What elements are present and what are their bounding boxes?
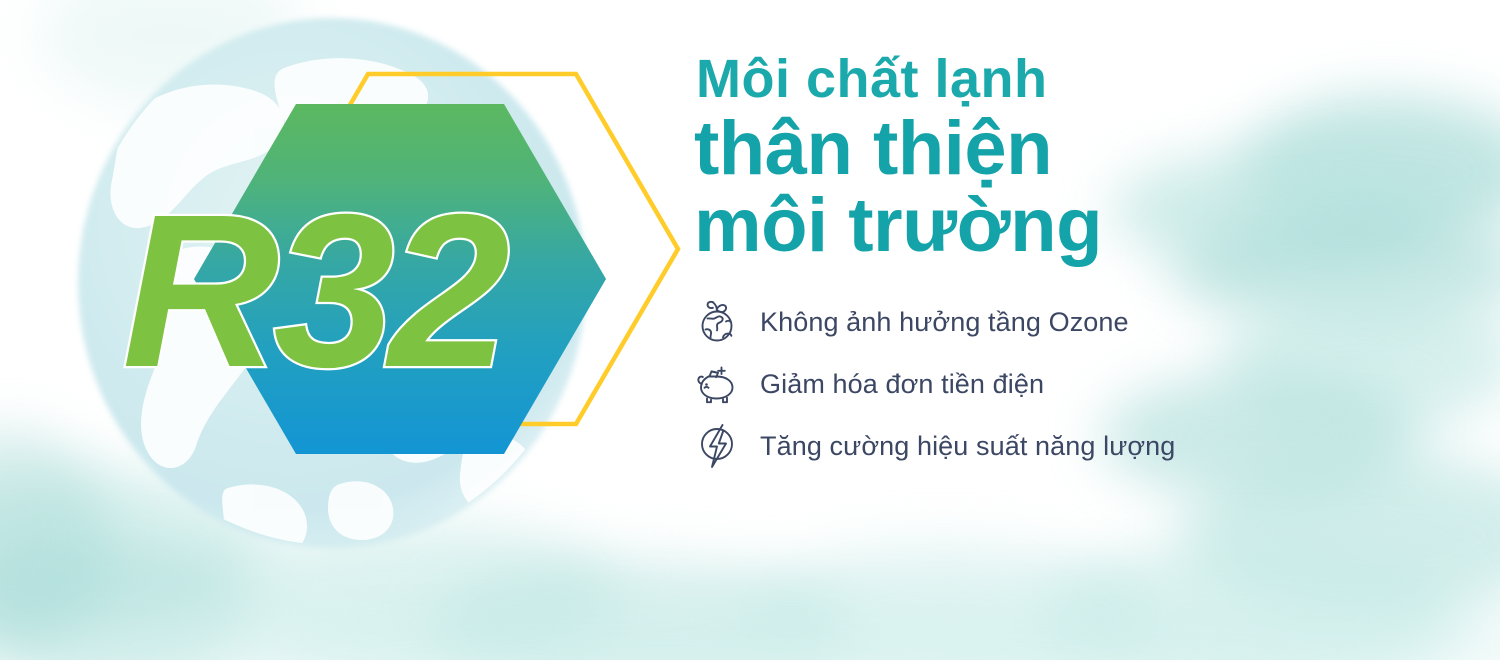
- wash-left-edge: [0, 430, 110, 650]
- benefit-label: Giảm hóa đơn tiền điện: [760, 369, 1044, 400]
- headline-line-3: môi trường: [694, 186, 1448, 265]
- r32-refrigerant-hexagon-logo: R32: [106, 46, 666, 486]
- hexagon-logo-svg: R32: [106, 46, 666, 486]
- wash-bottom-center-1: [220, 520, 620, 660]
- benefit-label: Tăng cường hiệu suất năng lượng: [760, 431, 1175, 462]
- piggy-bank-icon: [694, 359, 742, 409]
- wash-bottom-strip: [0, 596, 1500, 660]
- globe-sprout-icon: [694, 297, 742, 347]
- list-item: Tăng cường hiệu suất năng lượng: [694, 415, 1448, 477]
- headline-line-2: thân thiện: [694, 109, 1448, 188]
- wash-bottom-center-2: [430, 560, 850, 660]
- r32-wordmark-text: R32: [122, 170, 508, 413]
- wash-bottom-left-2: [0, 540, 260, 660]
- wash-right-bottom: [1040, 540, 1460, 660]
- r32-wordmark: R32: [122, 170, 508, 413]
- benefit-label: Không ảnh hưởng tầng Ozone: [760, 307, 1129, 338]
- list-item: Không ảnh hưởng tầng Ozone: [694, 291, 1448, 353]
- list-item: Giảm hóa đơn tiền điện: [694, 353, 1448, 415]
- headline-line-1: Môi chất lạnh: [696, 52, 1448, 107]
- wash-bottom-right-1: [740, 545, 1160, 660]
- wash-bottom-left-1: [0, 470, 270, 630]
- lightning-bolt-circle-icon: [694, 421, 742, 471]
- r32-promotional-banner: R32 Môi chất lạnh thân thiện môi trường: [0, 0, 1500, 660]
- banner-text-content: Môi chất lạnh thân thiện môi trường: [688, 52, 1448, 477]
- benefits-list: Không ảnh hưởng tầng Ozone: [694, 291, 1448, 477]
